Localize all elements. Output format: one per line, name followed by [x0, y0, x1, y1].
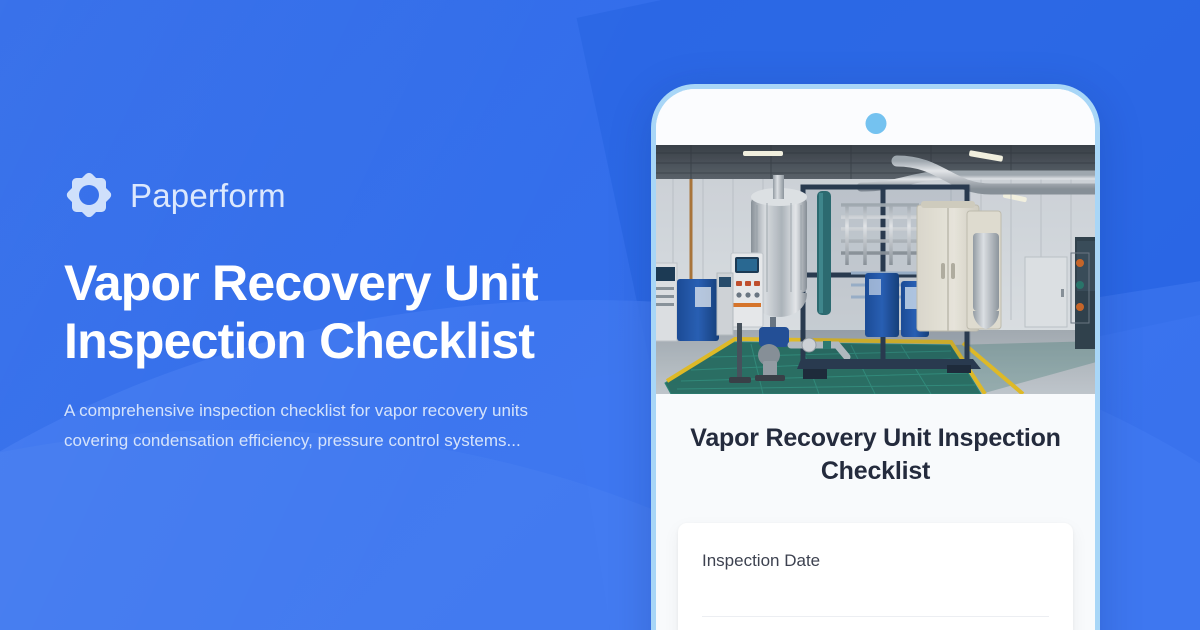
phone-mockup: Vapor Recovery Unit Inspection Checklist… — [651, 84, 1100, 630]
form-hero-image — [656, 145, 1095, 394]
brand-lockup[interactable]: Paperform — [64, 170, 624, 220]
hero-content-column: Paperform Vapor Recovery Unit Inspection… — [64, 170, 624, 457]
page-description: A comprehensive inspection checklist for… — [64, 396, 554, 457]
field-label: Inspection Date — [702, 549, 1049, 573]
form-preview: Vapor Recovery Unit Inspection Checklist… — [656, 394, 1095, 630]
brand-name: Paperform — [130, 179, 286, 212]
field-input-underline[interactable] — [702, 616, 1049, 617]
camera-dot-icon — [865, 113, 886, 134]
social-share-card: Paperform Vapor Recovery Unit Inspection… — [0, 0, 1200, 630]
form-field-inspection-date[interactable]: Inspection Date — [678, 523, 1073, 630]
page-title: Vapor Recovery Unit Inspection Checklist — [64, 254, 584, 370]
form-title: Vapor Recovery Unit Inspection Checklist — [678, 422, 1073, 489]
paperform-star-logo-icon — [64, 170, 114, 220]
industrial-plant-illustration — [656, 145, 1095, 394]
phone-top-bar — [656, 89, 1095, 145]
